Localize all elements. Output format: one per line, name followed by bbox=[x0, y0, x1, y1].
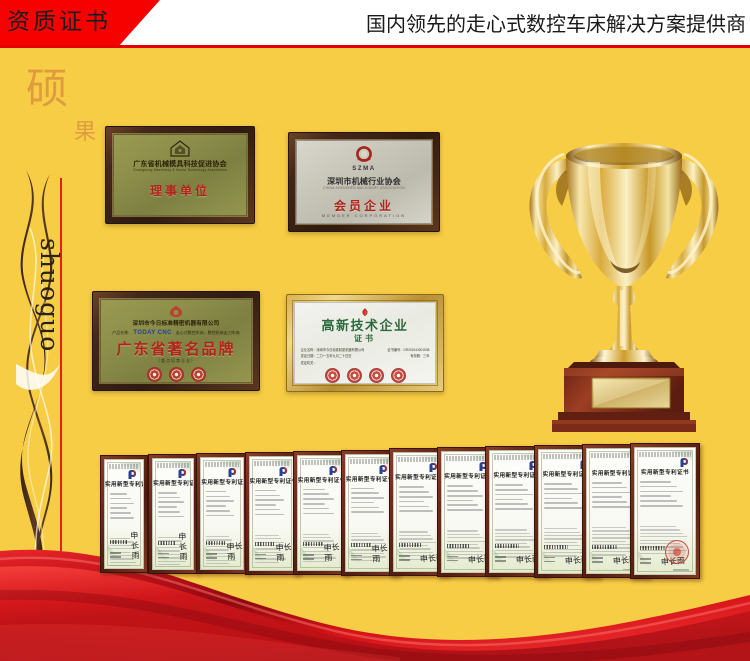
patent-barcode bbox=[495, 544, 519, 548]
patent-title: 实用新型专利证书 bbox=[153, 481, 193, 488]
patent-office-logo-icon bbox=[377, 464, 389, 476]
certificate-page: 资质证书 国内领先的走心式数控车床解决方案提供商 硕 果 shuoguo bbox=[0, 0, 750, 661]
plaque-org-name-en: CHINA SHENZHEN MACHINERY ASSOCIATION bbox=[323, 186, 405, 191]
patent-barcode bbox=[640, 546, 666, 550]
patent-title: 实用新型专利证书 bbox=[105, 482, 143, 489]
patent-footer-number bbox=[673, 569, 689, 571]
plaque-high-tech-enterprise[interactable]: 高新技术企业 证书 企业名称：深圳市今日标准精密机器有限公司 证书编号：GR20… bbox=[286, 294, 444, 392]
page-header: 资质证书 国内领先的走心式数控车床解决方案提供商 bbox=[0, 0, 750, 50]
patent-title: 实用新型专利证书 bbox=[201, 480, 243, 487]
brand-mark-primary: 硕 bbox=[26, 66, 68, 112]
patent-certificate[interactable]: 实用新型专利证书申长雨 bbox=[148, 454, 198, 574]
patent-office-logo-icon bbox=[678, 457, 690, 469]
patent-title: 实用新型专利证书 bbox=[635, 470, 695, 477]
header-tagline: 国内领先的走心式数控车床解决方案提供商 bbox=[366, 11, 746, 38]
patent-office-logo-icon bbox=[226, 467, 238, 479]
patent-field-lines bbox=[351, 488, 389, 517]
patent-certificate[interactable]: 实用新型专利证书申长雨 bbox=[630, 443, 700, 579]
patent-office-logo-icon bbox=[176, 468, 188, 480]
plaque-szma-member[interactable]: SZMA 深圳市机械行业协会 CHINA SHENZHEN MACHINERY … bbox=[288, 132, 440, 232]
brand-emblem-icon bbox=[167, 305, 185, 318]
plaque-award-title: 理事单位 bbox=[150, 184, 210, 198]
plaque-guangdong-machinery-mould[interactable]: 广东省机械模具科技促进协会 Guangdong Machinery & Moul… bbox=[105, 126, 255, 224]
patent-paper: 实用新型专利证书申长雨 bbox=[200, 457, 244, 570]
plaque-org-name-cn: 深圳市机械行业协会 bbox=[327, 177, 401, 186]
red-seal-icon bbox=[391, 368, 406, 383]
patent-field-lines bbox=[206, 491, 238, 520]
patent-certificate[interactable]: 实用新型专利证书申长雨 bbox=[196, 453, 248, 574]
plaque-plate: 广东省机械模具科技促进协会 Guangdong Machinery & Moul… bbox=[113, 134, 247, 216]
patent-paper: 实用新型专利证书申长雨 bbox=[104, 459, 144, 569]
gold-trophy bbox=[506, 110, 742, 442]
patent-paper: 实用新型专利证书申长雨 bbox=[345, 454, 395, 572]
plaque-award-subtitle: 证书 bbox=[354, 334, 376, 344]
field-company: 企业名称：深圳市今日标准精密机器有限公司 bbox=[301, 348, 365, 352]
plaque-org-name-en: Guangdong Machinery & Mould Technology A… bbox=[133, 168, 227, 173]
association-logo-icon bbox=[169, 140, 191, 157]
high-tech-flame-icon bbox=[357, 308, 373, 317]
plaque-award-subtitle: MEMBER CORPORATION bbox=[322, 213, 406, 219]
page-title: 资质证书 bbox=[7, 7, 157, 38]
patent-paper: 实用新型专利证书申长雨 bbox=[634, 447, 696, 575]
patent-certificate[interactable]: 实用新型专利证书申长雨 bbox=[100, 455, 148, 573]
patent-field-lines bbox=[110, 493, 138, 522]
red-seal-icon bbox=[347, 368, 362, 383]
field-issue-date: 发证日期：二〇一五年九月二十四日 bbox=[301, 354, 352, 358]
patent-certificate[interactable]: 实用新型专利证书申长雨 bbox=[245, 452, 299, 575]
patent-signature: 申长雨 bbox=[275, 542, 294, 563]
patent-red-seal-icon bbox=[665, 540, 689, 564]
patent-barcode bbox=[158, 541, 176, 545]
red-seal-icon bbox=[147, 367, 162, 382]
plaque-product-label: 产品名称: bbox=[112, 330, 129, 336]
plaque-product-brand: TODAY CNC bbox=[133, 330, 172, 336]
plaque-award-title: 高新技术企业 bbox=[321, 319, 408, 334]
plaque-award-title: 会员企业 bbox=[334, 199, 394, 213]
szma-logo-icon bbox=[353, 146, 375, 165]
field-cert-no: 证书编号：GR201544001538 bbox=[387, 348, 429, 352]
patent-field-lines bbox=[255, 490, 289, 519]
patent-office-logo-icon bbox=[126, 469, 138, 481]
patent-barcode bbox=[351, 543, 372, 547]
plaque-plate: SZMA 深圳市机械行业协会 CHINA SHENZHEN MACHINERY … bbox=[296, 140, 432, 224]
patent-barcode bbox=[206, 541, 224, 545]
patent-barcode bbox=[447, 544, 470, 548]
patent-barcode bbox=[303, 542, 323, 546]
red-seal-icon bbox=[191, 367, 206, 382]
plaque-org-name-cn: 深圳市今日标准精密机器有限公司 bbox=[133, 321, 220, 328]
patent-office-logo-icon bbox=[277, 466, 289, 478]
field-valid-period: 有效期：三年 bbox=[410, 354, 429, 358]
patent-title: 实用新型专利证书 bbox=[250, 479, 294, 486]
patent-field-lines bbox=[447, 485, 489, 514]
plaque-logo-text: SZMA bbox=[352, 166, 375, 173]
patent-signature: 申长雨 bbox=[227, 542, 244, 563]
patent-field-lines bbox=[640, 481, 690, 510]
patent-barcode bbox=[110, 540, 127, 544]
plaque-award-title: 广东省著名品牌 bbox=[116, 340, 235, 358]
plaque-product-desc: 走心式数控车床、数控机床走刀车床 bbox=[176, 330, 240, 336]
plaque-guangdong-famous-brand[interactable]: 深圳市今日标准精密机器有限公司 产品名称: TODAY CNC 走心式数控车床、… bbox=[92, 291, 260, 391]
patent-field-lines bbox=[303, 489, 339, 518]
patent-paper: 实用新型专利证书申长雨 bbox=[249, 456, 295, 571]
field-authority: 发证机关： bbox=[301, 361, 430, 365]
patent-field-lines bbox=[158, 492, 188, 521]
content-stage: 硕 果 shuoguo 广东省机械模具科技促进协会 Guangdong Mach… bbox=[0, 48, 750, 661]
patent-signature: 申长雨 bbox=[130, 531, 144, 562]
red-seal-icon bbox=[325, 368, 340, 383]
patent-signature: 申长雨 bbox=[178, 531, 194, 562]
red-seal-icon bbox=[369, 368, 384, 383]
plaque-award-subtitle: （重点培育企业） bbox=[156, 358, 196, 364]
patent-title: 实用新型专利证书 bbox=[298, 478, 344, 485]
patent-certificates-row: 实用新型专利证书申长雨实用新型专利证书申长雨实用新型专利证书申长雨实用新型专利证… bbox=[100, 441, 750, 581]
brand-mark-secondary: 果 bbox=[74, 120, 96, 146]
brand-pinyin-label: shuoguo bbox=[35, 238, 63, 352]
patent-paper: 实用新型专利证书申长雨 bbox=[152, 458, 194, 570]
plaque-plate: 深圳市今日标准精密机器有限公司 产品名称: TODAY CNC 走心式数控车床、… bbox=[100, 299, 252, 383]
patent-office-logo-icon bbox=[327, 465, 339, 477]
patent-barcode bbox=[544, 545, 569, 549]
patent-title: 实用新型专利证书 bbox=[346, 477, 394, 484]
patent-field-lines bbox=[399, 486, 439, 515]
red-seal-icon bbox=[169, 367, 184, 382]
plaque-seal-row bbox=[325, 368, 406, 383]
plaque-seal-row bbox=[147, 367, 206, 382]
plaque-plate: 高新技术企业 证书 企业名称：深圳市今日标准精密机器有限公司 证书编号：GR20… bbox=[294, 302, 436, 384]
patent-barcode bbox=[255, 542, 274, 546]
plaque-org-name-cn: 广东省机械模具科技促进协会 bbox=[133, 160, 227, 168]
patent-barcode bbox=[399, 543, 421, 547]
patent-barcode bbox=[592, 545, 618, 549]
patent-paper: 实用新型专利证书申长雨 bbox=[297, 455, 345, 572]
